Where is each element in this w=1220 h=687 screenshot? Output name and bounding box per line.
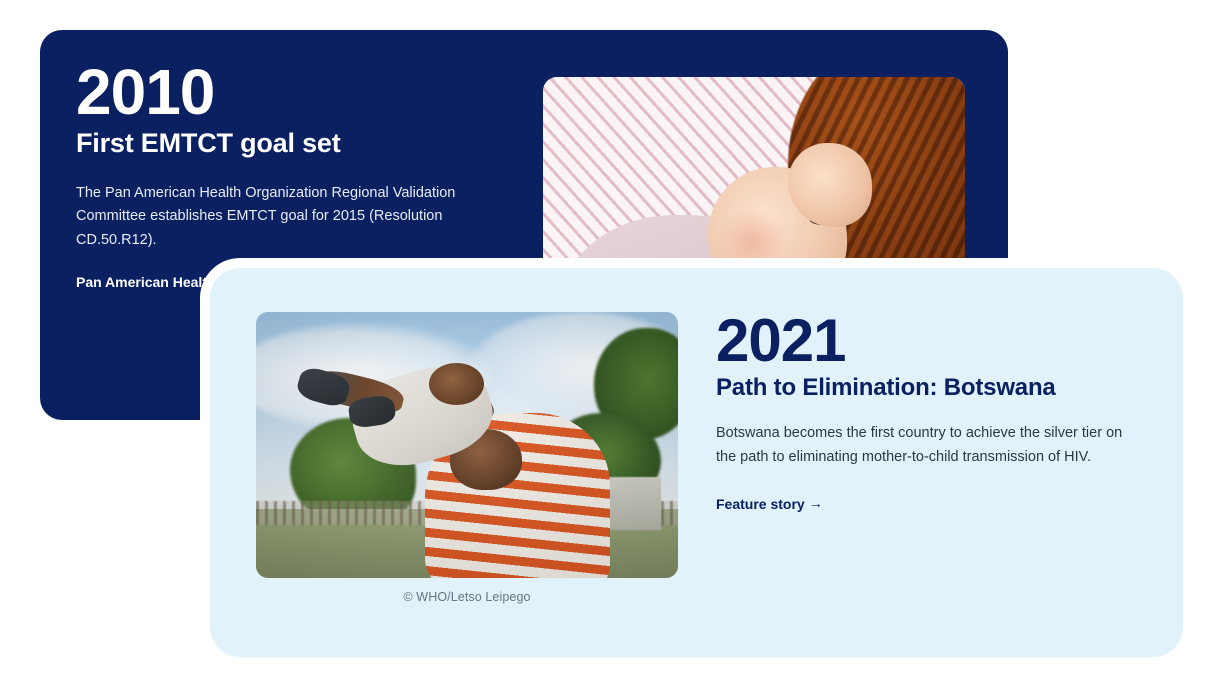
card-2021-body-text: Botswana becomes the first country to ac… bbox=[716, 422, 1126, 469]
photo-credit-caption: © WHO/Letso Leipego bbox=[256, 590, 678, 604]
timeline-card-2021[interactable]: © WHO/Letso Leipego 2021 Path to Elimina… bbox=[210, 268, 1183, 657]
card-2021-text-block: 2021 Path to Elimination: Botswana Botsw… bbox=[716, 310, 1146, 514]
feature-story-link-label: Feature story bbox=[716, 496, 805, 512]
woman-lifting-toddler-photo bbox=[256, 312, 678, 578]
card-2021-headline: Path to Elimination: Botswana bbox=[716, 373, 1146, 402]
arrow-right-icon: → bbox=[809, 495, 823, 511]
card-2010-body-text: The Pan American Health Organization Reg… bbox=[76, 182, 506, 252]
card-2021-feature-story-link[interactable]: Feature story→ bbox=[716, 495, 823, 512]
card-2010-text-block: 2010 First EMTCT goal set The Pan Americ… bbox=[76, 60, 546, 292]
timeline-cards-stage: 2010 First EMTCT goal set The Pan Americ… bbox=[0, 0, 1220, 687]
card-2010-headline: First EMTCT goal set bbox=[76, 127, 546, 159]
card-2010-year: 2010 bbox=[76, 60, 546, 125]
card-2021-year: 2021 bbox=[716, 310, 1146, 371]
